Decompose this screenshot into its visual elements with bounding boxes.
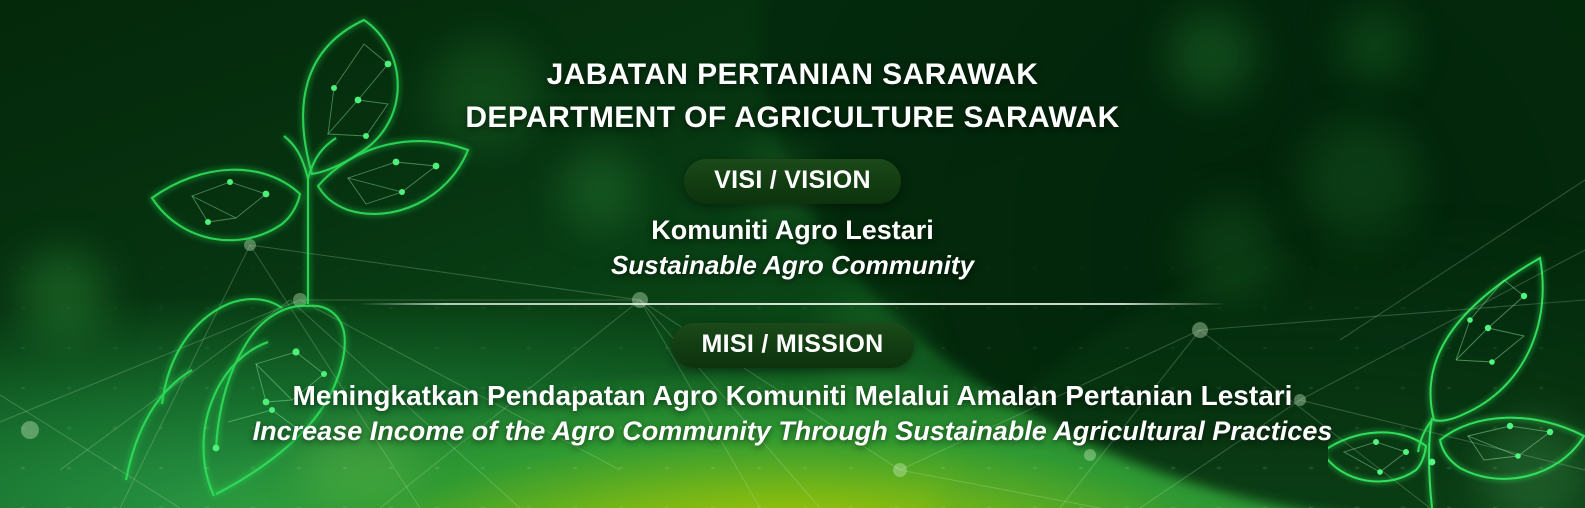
section-divider <box>359 303 1227 305</box>
mission-statement-ms: Meningkatkan Pendapatan Agro Komuniti Me… <box>253 380 1333 412</box>
vision-badge: VISI / VISION <box>684 159 901 204</box>
banner-content: JABATAN PERTANIAN SARAWAK DEPARTMENT OF … <box>0 0 1585 508</box>
mission-badge: MISI / MISSION <box>672 323 914 368</box>
vision-statement-ms: Komuniti Agro Lestari <box>611 215 974 246</box>
vision-mission-banner: JABATAN PERTANIAN SARAWAK DEPARTMENT OF … <box>0 0 1585 508</box>
mission-section: MISI / MISSION Meningkatkan Pendapatan A… <box>253 323 1333 447</box>
vision-section: VISI / VISION Komuniti Agro Lestari Sust… <box>611 159 974 281</box>
org-name-en: DEPARTMENT OF AGRICULTURE SARAWAK <box>465 97 1119 140</box>
org-name-ms: JABATAN PERTANIAN SARAWAK <box>465 54 1119 97</box>
organisation-title: JABATAN PERTANIAN SARAWAK DEPARTMENT OF … <box>465 54 1119 139</box>
vision-statement-en: Sustainable Agro Community <box>611 250 974 281</box>
mission-statement-en: Increase Income of the Agro Community Th… <box>253 416 1333 447</box>
